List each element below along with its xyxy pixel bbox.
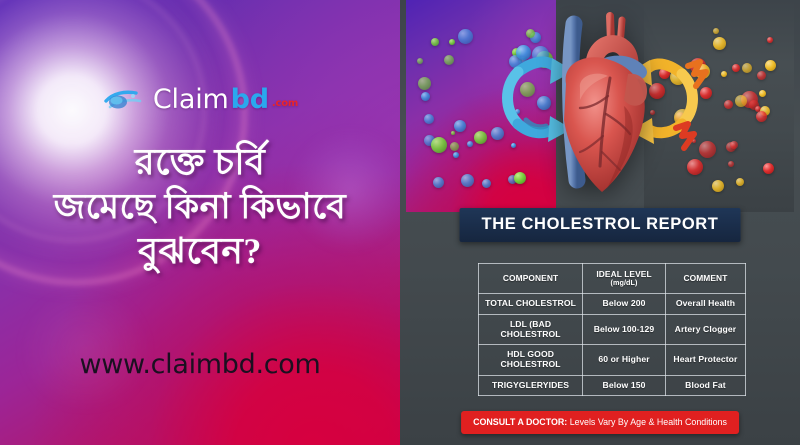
headline-line-3: বুঝবেন? [8, 229, 392, 274]
cell-ideal: Below 200 [583, 294, 666, 315]
disclaimer-prefix: CONSULT A DOCTOR: [473, 417, 567, 427]
logo-text-bd: bd [231, 86, 269, 113]
column-header-comment: COMMENT [665, 264, 745, 294]
left-promo-panel: Claimbd.com রক্তে চর্বি জমেছে কিনা কিভাব… [0, 0, 400, 445]
table-row: HDL GOOD CHOLESTROL 60 or Higher Heart P… [479, 345, 746, 375]
cell-comment: Heart Protector [665, 345, 745, 375]
heart-illustration [400, 0, 800, 212]
column-header-ideal-level: IDEAL LEVEL (mg/dL) [583, 264, 666, 294]
claimbd-logo[interactable]: Claimbd.com [0, 84, 400, 114]
cell-comment: Blood Fat [665, 375, 745, 396]
table-row: TOTAL CHOLESTROL Below 200 Overall Healt… [479, 294, 746, 315]
cell-component: TOTAL CHOLESTROL [479, 294, 583, 315]
cell-ideal: Below 100-129 [583, 315, 666, 345]
right-report-panel: THE CHOLESTROL REPORT COMPONENT IDEAL LE… [400, 0, 800, 445]
table-header-row: COMPONENT IDEAL LEVEL (mg/dL) COMMENT [479, 264, 746, 294]
table-row: LDL (BAD CHOLESTROL Below 100-129 Artery… [479, 315, 746, 345]
table-row: TRIGYGLERYIDES Below 150 Blood Fat [479, 375, 746, 396]
cholesterol-table: COMPONENT IDEAL LEVEL (mg/dL) COMMENT TO… [478, 263, 746, 396]
claimbd-swoosh-logo-icon [103, 84, 149, 114]
cell-ideal: Below 150 [583, 375, 666, 396]
report-title-banner: THE CHOLESTROL REPORT [460, 208, 741, 242]
disclaimer-banner: CONSULT A DOCTOR: Levels Vary By Age & H… [461, 411, 739, 434]
disclaimer-text: Levels Vary By Age & Health Conditions [567, 417, 727, 427]
cell-component: LDL (BAD CHOLESTROL [479, 315, 583, 345]
cell-comment: Artery Clogger [665, 315, 745, 345]
cell-component: TRIGYGLERYIDES [479, 375, 583, 396]
cell-ideal: 60 or Higher [583, 345, 666, 375]
website-url[interactable]: www.claimbd.com [0, 349, 400, 380]
column-header-component: COMPONENT [479, 264, 583, 294]
logo-text-com: .com [272, 99, 298, 109]
cholesterol-infographic-poster: Claimbd.com রক্তে চর্বি জমেছে কিনা কিভাব… [0, 0, 800, 445]
cell-comment: Overall Health [665, 294, 745, 315]
headline-line-1: রক্তে চর্বি [8, 140, 392, 185]
page-title: রক্তে চর্বি জমেছে কিনা কিভাবে বুঝবেন? [0, 140, 400, 275]
logo-text-claim: Claim [153, 86, 229, 113]
column-header-unit: (mg/dL) [584, 279, 664, 287]
cell-component: HDL GOOD CHOLESTROL [479, 345, 583, 375]
headline-line-2: জমেছে কিনা কিভাবে [8, 185, 392, 229]
anatomical-heart-icon [536, 10, 668, 206]
